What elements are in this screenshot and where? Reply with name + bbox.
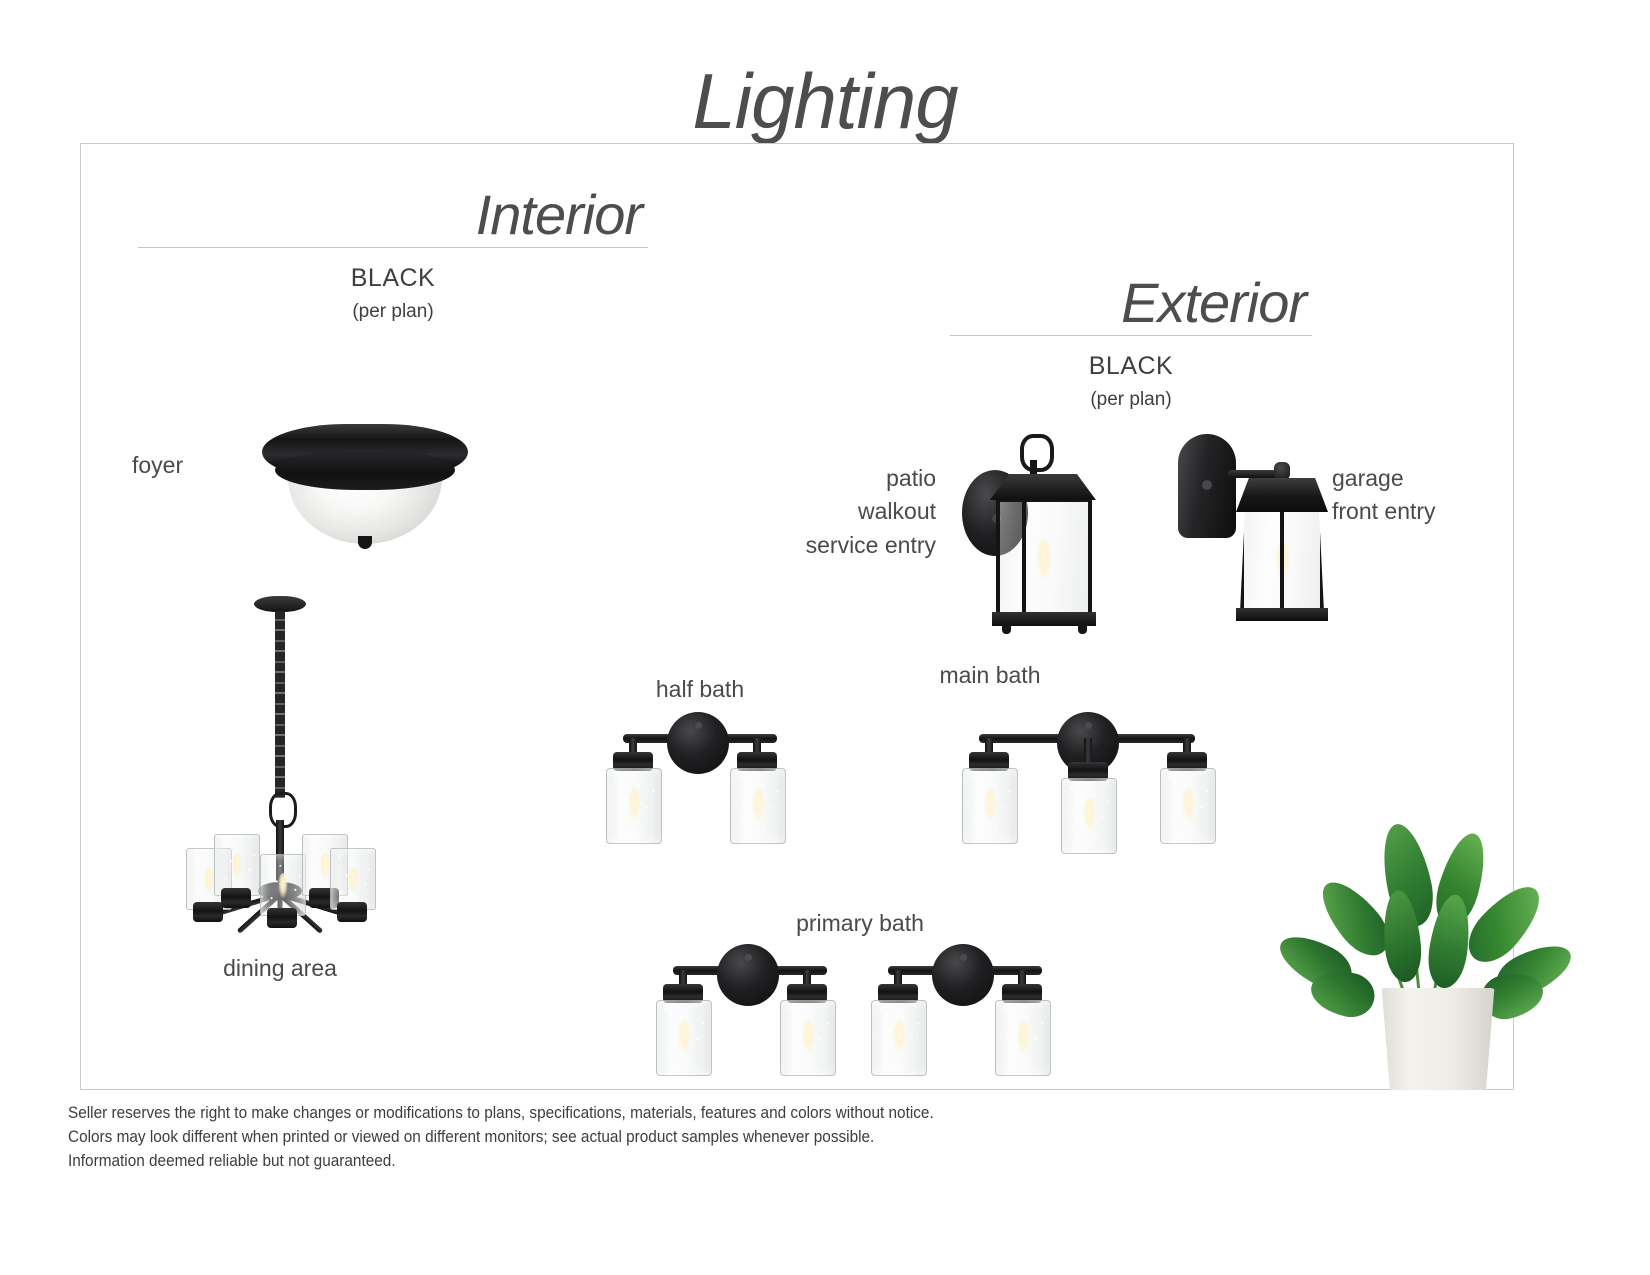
label-foyer: foyer <box>132 450 183 481</box>
section-interior-note: (per plan) <box>138 301 648 323</box>
two-light-vanity-icon <box>870 938 1060 1068</box>
socket <box>337 902 367 922</box>
section-interior-rule <box>138 247 648 248</box>
section-exterior-note: (per plan) <box>950 389 1312 411</box>
glass-shade <box>214 834 260 896</box>
outdoor-wall-lantern-icon <box>962 428 1102 634</box>
bulb-filament <box>678 1020 691 1054</box>
five-light-chandelier-icon <box>172 596 388 948</box>
neck <box>1030 460 1037 476</box>
section-exterior: Exterior BLACK (per plan) <box>950 274 1312 411</box>
bulb-filament <box>893 1020 906 1054</box>
glass-shade <box>330 848 376 910</box>
glass-shade <box>780 1000 836 1076</box>
socket <box>193 902 223 922</box>
socket <box>221 888 251 908</box>
label-main-bath: main bath <box>890 660 1090 691</box>
plant-pot <box>1378 988 1498 1090</box>
stem <box>1084 738 1092 764</box>
foot <box>1078 624 1087 634</box>
glass-shade <box>995 1000 1051 1076</box>
hood <box>1236 478 1328 512</box>
glass-shade <box>656 1000 712 1076</box>
bulb-filament <box>1017 1020 1030 1054</box>
bulb-filament <box>984 788 997 822</box>
bulb-filament <box>802 1020 815 1054</box>
potted-plant-icon <box>1300 820 1550 1090</box>
bulb-filament <box>232 853 242 879</box>
wall-plate <box>717 944 779 1006</box>
disclaimer-text: Seller reserves the right to make change… <box>68 1102 998 1174</box>
two-light-vanity-icon <box>655 938 845 1068</box>
label-primary-bath: primary bath <box>760 908 960 939</box>
bulb-filament <box>1083 798 1096 832</box>
three-light-vanity-icon <box>965 706 1215 836</box>
two-light-vanity-icon <box>605 706 795 836</box>
bulb-filament <box>278 873 288 899</box>
label-half-bath: half bath <box>600 674 800 705</box>
glass-shade <box>1061 778 1117 854</box>
label-dining-area: dining area <box>170 953 390 984</box>
mullion <box>1022 498 1026 616</box>
glass-shade <box>962 768 1018 844</box>
section-interior-finish: BLACK <box>138 264 648 293</box>
trim-ring-inner <box>275 450 455 490</box>
bulb-filament <box>348 867 358 893</box>
wall-plate <box>932 944 994 1006</box>
wall-plate <box>1178 434 1236 538</box>
section-interior-title: Interior <box>138 186 648 245</box>
glass-shade <box>871 1000 927 1076</box>
bulb-filament <box>204 867 214 893</box>
outdoor-arm-lantern-icon <box>1178 434 1328 630</box>
bulb-filament <box>752 788 765 822</box>
section-exterior-title: Exterior <box>950 274 1312 333</box>
knuckle-joint <box>1274 462 1290 480</box>
foot <box>1002 624 1011 634</box>
page-title: Lighting <box>0 62 1650 140</box>
chain <box>275 610 285 798</box>
base <box>1236 608 1328 621</box>
glass-housing <box>996 498 1092 616</box>
section-exterior-finish: BLACK <box>950 352 1312 381</box>
socket <box>267 908 297 928</box>
top-loop-finial <box>1020 434 1054 472</box>
section-interior: Interior BLACK (per plan) <box>138 186 648 323</box>
bulb-filament <box>628 788 641 822</box>
glass-shade <box>1160 768 1216 844</box>
glass-shade <box>606 768 662 844</box>
label-garage-front-entry: garage front entry <box>1332 462 1552 529</box>
label-patio-walkout-service-entry: patio walkout service entry <box>700 462 936 562</box>
glass-shade <box>260 854 306 916</box>
mullion <box>1280 510 1284 612</box>
flush-mount-dome-light-icon <box>262 424 468 546</box>
bulb-filament <box>320 853 330 879</box>
bulb-filament <box>1182 788 1195 822</box>
bulb-filament <box>1036 539 1052 581</box>
glass-shade <box>730 768 786 844</box>
wall-plate <box>667 712 729 774</box>
section-exterior-rule <box>950 335 1312 336</box>
